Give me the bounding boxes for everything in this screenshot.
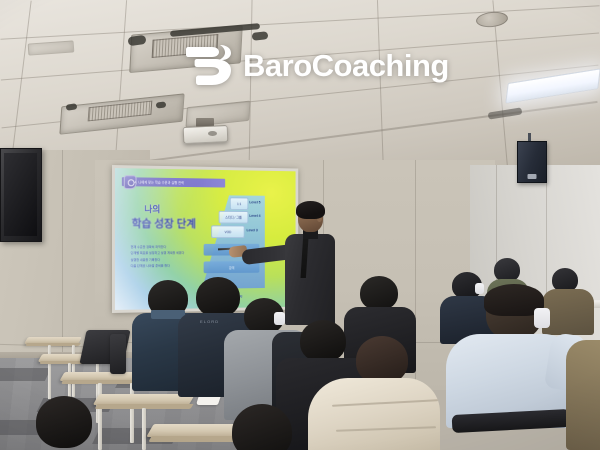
presenter-hair [296, 201, 325, 219]
projector-icon [183, 125, 229, 144]
speaker-brand-logo [528, 174, 537, 179]
pyramid-step: 스터디 / 그룹 [219, 211, 249, 224]
projector-lens [208, 131, 217, 136]
face-mask [475, 283, 484, 294]
attendee-head [356, 336, 408, 384]
barocoaching-logo: BaroCoaching [186, 40, 449, 90]
chair [110, 334, 126, 374]
seminar-room-photo: 4. 나에게 맞는 학습 수준과 실행 전략 나의 학습 성장 단계 현재 수준… [0, 0, 600, 450]
slide-pyramid-diagram: 1:1 Level 5 스터디 / 그룹 Level 4 VOD Level 3… [198, 195, 265, 289]
garment-text: ELORD [200, 319, 219, 324]
desk-leg [130, 383, 134, 443]
presenter [276, 203, 346, 325]
wall-display-icon [0, 148, 42, 242]
ac-vent-slot [488, 107, 523, 119]
attendee-head [196, 277, 240, 317]
slide-headline-1: 나의 [144, 202, 160, 215]
desk-leg [72, 345, 75, 397]
slide-bullet: 다음 단계로 나아갈 준비를 한다 [131, 263, 191, 270]
logo-text: BaroCoaching [243, 50, 449, 81]
speaker-icon [517, 141, 547, 183]
face-mask [534, 308, 550, 328]
wall-display-screen [4, 153, 37, 236]
pyramid-level-label: Level 5 [249, 200, 260, 204]
barocoaching-b-mark [186, 42, 234, 88]
slide-headline-2: 학습 성장 단계 [132, 215, 196, 231]
attendee-head [36, 396, 92, 448]
attendee-head [360, 276, 398, 310]
slide-title-bar: 4. 나에게 맞는 학습 수준과 실행 전략 [122, 177, 225, 187]
slide-title-text: 4. 나에게 맞는 학습 수준과 실행 전략 [135, 179, 184, 185]
pyramid-level-label: Level 3 [246, 228, 257, 232]
presenter-torso [285, 234, 335, 325]
desk-leg [142, 408, 146, 450]
attendee-torso [308, 378, 440, 450]
pyramid-step: VOD [211, 225, 244, 238]
attendee-torso [566, 340, 600, 450]
ceiling-patch [28, 40, 75, 55]
face-mask [274, 312, 285, 325]
pyramid-level-label: Level 4 [249, 214, 260, 218]
attendee-head [300, 320, 346, 362]
pyramid-step: 1:1 [230, 197, 248, 210]
slide-bullet-list: 현재 수준을 정확히 파악한다 단계별 목표를 설정하고 실행 계획을 세운다 … [131, 244, 191, 270]
